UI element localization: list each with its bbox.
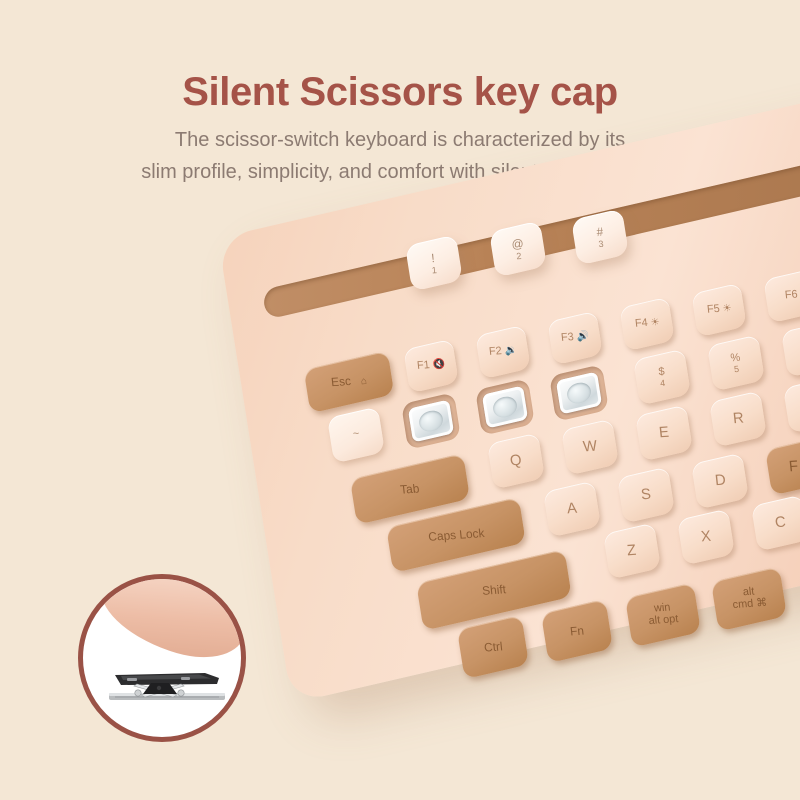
scissor-switch-badge xyxy=(78,574,246,742)
floating-keycap-1-label: ! 1 xyxy=(430,250,438,275)
scissor-mechanism-icon xyxy=(482,385,528,428)
page-title: Silent Scissors key cap xyxy=(0,70,800,115)
scissor-mechanism-icon xyxy=(408,399,454,442)
scissor-mechanism-icon xyxy=(556,371,602,414)
product-marketing-image: Silent Scissors key cap The scissor-swit… xyxy=(0,0,800,800)
scissor-switch-diagram-icon xyxy=(107,653,227,705)
home-icon: ⌂ xyxy=(360,376,367,387)
volume-up-icon: 🔊 xyxy=(576,331,589,343)
brightness-icon: ☀ xyxy=(650,317,660,329)
volume-mute-icon: 🔇 xyxy=(432,359,445,371)
floating-keycap-2-label: @ 2 xyxy=(511,236,526,262)
brightness-icon: ☀ xyxy=(722,303,732,315)
floating-keycap-3-label: # 3 xyxy=(595,224,604,249)
volume-down-icon: 🔉 xyxy=(504,345,517,357)
